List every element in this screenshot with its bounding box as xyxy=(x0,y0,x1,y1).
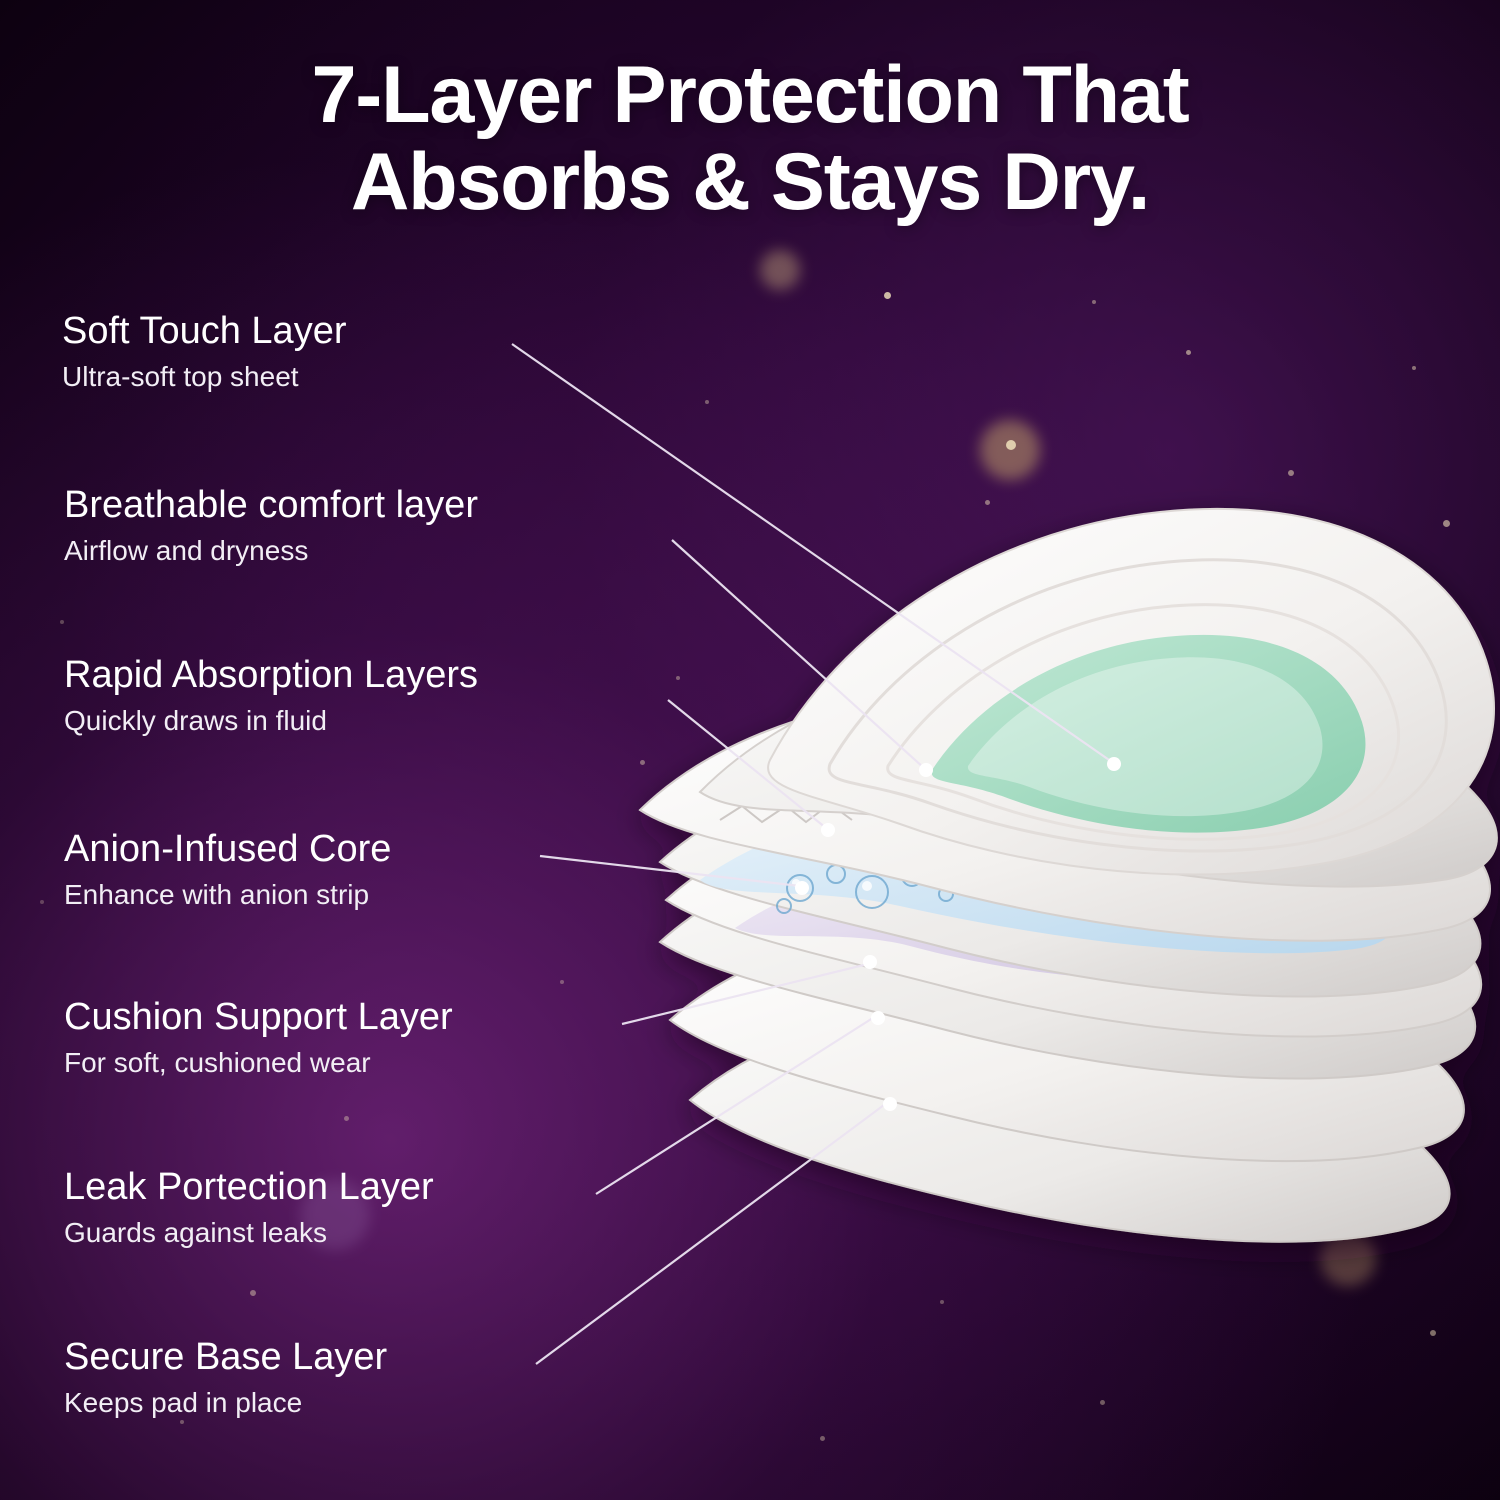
leader-line-1 xyxy=(512,344,1112,762)
soft-touch-contour-2 xyxy=(888,605,1399,840)
callout-title: Anion-Infused Core xyxy=(64,830,391,870)
leader-line-2 xyxy=(672,540,924,768)
title-line-1: 7-Layer Protection That xyxy=(311,50,1188,140)
callout-desc: Guards against leaks xyxy=(64,1218,434,1247)
torn-edge-detail xyxy=(720,804,852,822)
callout-leak-protection-layer: Leak Portection Layer Guards against lea… xyxy=(64,1168,434,1247)
callout-title: Rapid Absorption Layers xyxy=(64,656,478,696)
callout-desc: Airflow and dryness xyxy=(64,536,478,565)
absorbent-core-green xyxy=(932,635,1366,833)
layer-leak-protection xyxy=(670,920,1464,1161)
callout-soft-touch-layer: Soft Touch Layer Ultra-soft top sheet xyxy=(62,312,346,391)
layer-anion-backing xyxy=(666,794,1481,1036)
title-line-2: Absorbs & Stays Dry. xyxy=(0,139,1500,226)
anion-bubble-highlights xyxy=(792,873,990,892)
layer-cushion-support xyxy=(660,834,1475,1078)
callout-secure-base-layer: Secure Base Layer Keeps pad in place xyxy=(64,1338,387,1417)
layer-rapid-absorption xyxy=(640,690,1490,940)
callout-title: Soft Touch Layer xyxy=(62,312,346,352)
callout-rapid-absorption-layers: Rapid Absorption Layers Quickly draws in… xyxy=(64,656,478,735)
callout-title: Cushion Support Layer xyxy=(64,998,453,1038)
layer-soft-touch xyxy=(768,509,1494,875)
leader-line-5 xyxy=(622,964,868,1024)
leader-line-3 xyxy=(668,700,826,828)
leader-line-7 xyxy=(536,1102,888,1364)
callout-title: Secure Base Layer xyxy=(64,1338,387,1378)
layer-secure-base xyxy=(690,1008,1450,1242)
page-title: 7-Layer Protection That Absorbs & Stays … xyxy=(0,52,1500,225)
core-highlight xyxy=(968,657,1323,816)
leader-lines xyxy=(512,344,1112,1364)
callout-desc: Keeps pad in place xyxy=(64,1388,387,1417)
callout-desc: For soft, cushioned wear xyxy=(64,1048,453,1077)
infographic-canvas: 7-Layer Protection That Absorbs & Stays … xyxy=(0,0,1500,1500)
callout-cushion-support-layer: Cushion Support Layer For soft, cushione… xyxy=(64,998,453,1077)
layer-breathable-comfort xyxy=(700,659,1497,886)
layer-anion-core-blue xyxy=(700,795,1393,953)
callout-desc: Ultra-soft top sheet xyxy=(62,362,346,391)
callout-anion-infused-core: Anion-Infused Core Enhance with anion st… xyxy=(64,830,391,909)
callout-title: Leak Portection Layer xyxy=(64,1168,434,1208)
callout-title: Breathable comfort layer xyxy=(64,486,478,526)
leader-endpoints xyxy=(795,757,1121,1111)
layer-absorbent-backing xyxy=(660,754,1480,996)
leader-line-6 xyxy=(596,1016,876,1194)
pad-stack xyxy=(640,509,1497,1242)
soft-touch-contour-1 xyxy=(829,560,1446,851)
anion-lilac-strip xyxy=(735,867,1248,980)
leader-line-4 xyxy=(540,856,800,886)
callout-desc: Enhance with anion strip xyxy=(64,880,391,909)
anion-bubbles xyxy=(777,865,1042,913)
callout-desc: Quickly draws in fluid xyxy=(64,706,478,735)
callout-breathable-comfort-layer: Breathable comfort layer Airflow and dry… xyxy=(64,486,478,565)
